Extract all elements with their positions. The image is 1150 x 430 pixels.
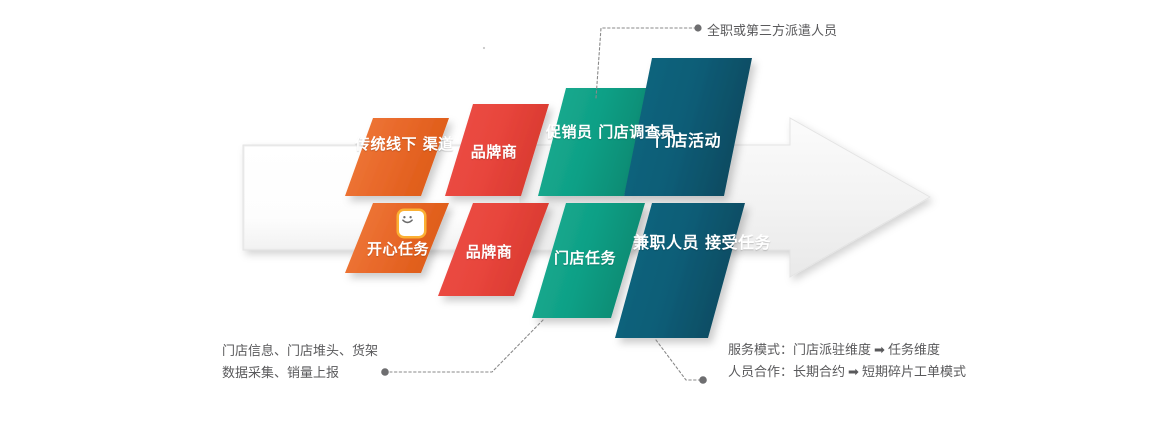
leader-dot-data-collection: [381, 368, 389, 376]
note-service-model: 服务模式：门店派驻维度➡任务维度 人员合作：长期合约➡短期碎片工单模式: [728, 340, 966, 384]
service-mode-to: 任务维度: [888, 343, 940, 358]
diagram-svg: [0, 0, 1150, 430]
note-data-collection: 门店信息、门店堆头、货架 数据采集、销量上报: [222, 341, 378, 385]
leader-line-service-model: [656, 340, 707, 384]
leader-line-data-collection: [381, 320, 543, 376]
arrow-glyph-icon: ➡: [871, 343, 888, 358]
arrow-glyph-icon: ➡: [845, 365, 862, 380]
leader-dot-service-model: [699, 376, 707, 384]
staff-coop-to: 短期碎片工单模式: [862, 365, 966, 380]
service-mode-prefix: 服务模式：: [728, 343, 793, 358]
staff-coop-prefix: 人员合作：: [728, 365, 793, 380]
smiley-face-glyph: [399, 211, 416, 228]
note-staffing: 全职或第三方派遣人员: [707, 21, 837, 43]
leader-dot-staffing: [694, 24, 701, 31]
stray-speck: [483, 47, 485, 49]
staff-coop-from: 长期合约: [793, 365, 845, 380]
diagram-canvas: 传统线下 渠道 品牌商 促销员 门店调查员 门店活动 开心任务 品牌商 门店任务…: [0, 0, 1150, 430]
smiley-app-icon[interactable]: [399, 211, 424, 236]
service-mode-from: 门店派驻维度: [793, 343, 871, 358]
note-line-staff-cooperation: 人员合作：长期合约➡短期碎片工单模式: [728, 362, 966, 384]
note-line-service-mode: 服务模式：门店派驻维度➡任务维度: [728, 340, 966, 362]
